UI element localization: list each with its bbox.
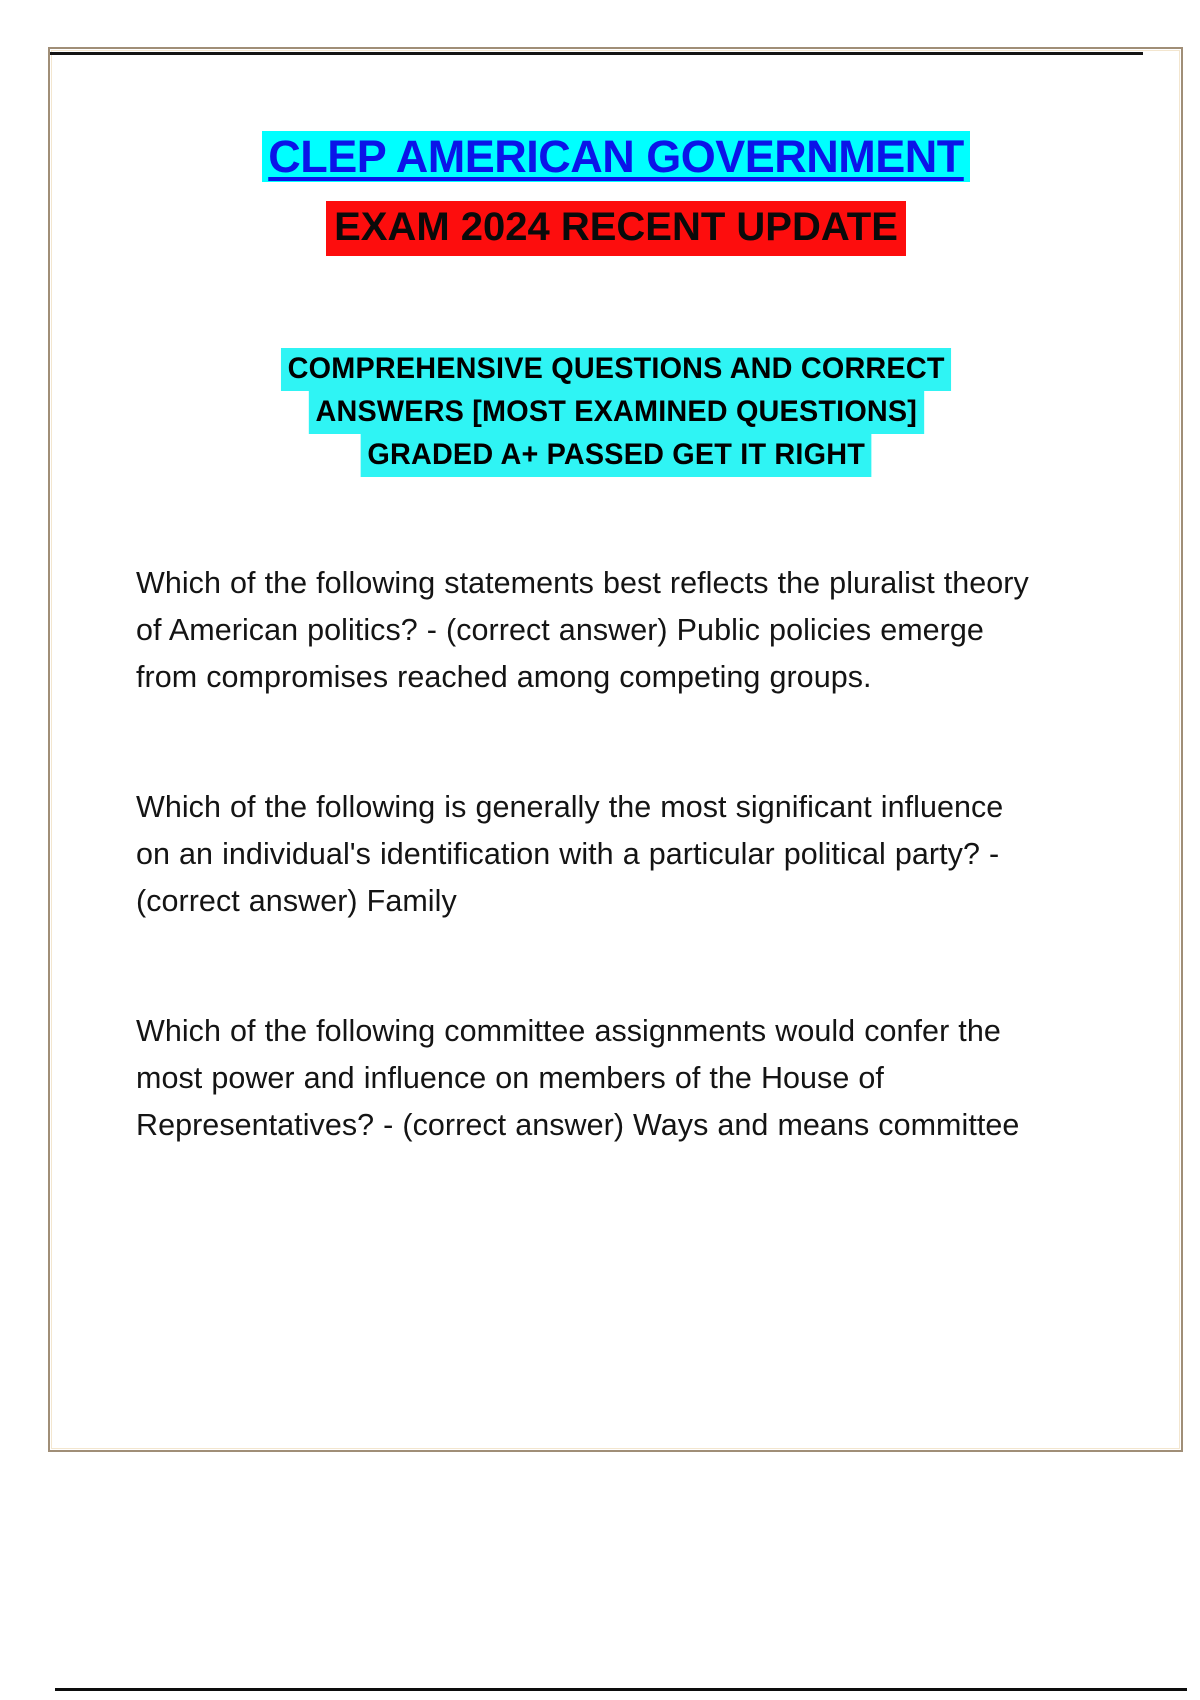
banner-line-2: ANSWERS [MOST EXAMINED QUESTIONS] — [309, 391, 924, 434]
question-list: Which of the following statements best r… — [136, 560, 1096, 1149]
question-item: Which of the following is generally the … — [136, 784, 1041, 925]
bottom-horizontal-rule — [55, 1688, 1187, 1691]
document-content: CLEP AMERICAN GOVERNMENT EXAM 2024 RECEN… — [136, 49, 1096, 1179]
title-row: CLEP AMERICAN GOVERNMENT — [136, 131, 1096, 182]
page-sheet: CLEP AMERICAN GOVERNMENT EXAM 2024 RECEN… — [48, 47, 1183, 1452]
page-subtitle: EXAM 2024 RECENT UPDATE — [326, 201, 906, 255]
question-item: Which of the following statements best r… — [136, 560, 1041, 701]
banner-line-3: GRADED A+ PASSED GET IT RIGHT — [360, 434, 871, 477]
page-title: CLEP AMERICAN GOVERNMENT — [262, 131, 970, 182]
subtitle-row: EXAM 2024 RECENT UPDATE — [136, 201, 1096, 255]
question-item: Which of the following committee assignm… — [136, 1008, 1041, 1149]
banner-line-1: COMPREHENSIVE QUESTIONS AND CORRECT — [281, 348, 951, 391]
banner-block: COMPREHENSIVE QUESTIONS AND CORRECT ANSW… — [136, 348, 1096, 477]
